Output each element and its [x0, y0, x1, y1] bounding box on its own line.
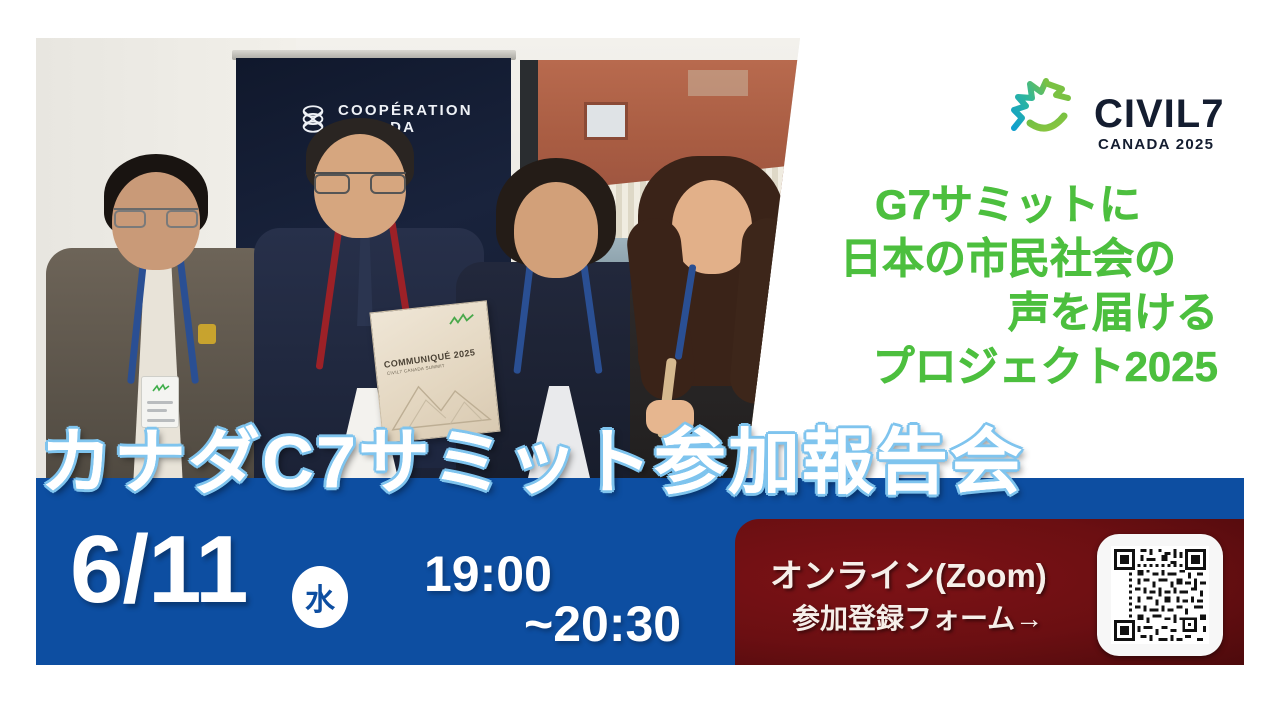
banner-line-1: COOPÉRATION	[338, 102, 473, 119]
civil7-wordmark: CIVIL7	[1094, 94, 1224, 134]
registration-line-1: オンライン(Zoom)	[770, 549, 1047, 597]
person-third-head	[514, 182, 598, 278]
badge-line-3	[147, 419, 175, 422]
qr-code-icon[interactable]	[1111, 546, 1209, 644]
event-photo: COOPÉRATION CANADA	[36, 38, 800, 478]
civil7-subtitle: CANADA 2025	[1098, 136, 1214, 153]
building-window	[584, 102, 628, 140]
person-left-glasses-icon	[114, 208, 198, 226]
person-left-badge	[141, 376, 179, 428]
badge-line-1	[147, 401, 173, 404]
tagline-line-4: プロジェクト2025	[798, 340, 1218, 394]
badge-line-2	[147, 409, 167, 412]
event-time-end: ~20:30	[524, 595, 681, 653]
booklet-civil7-icon	[447, 311, 476, 328]
event-day-of-week: 水	[292, 566, 348, 628]
tagline-line-1: G7サミットに	[798, 178, 1218, 232]
tagline: G7サミットに 日本の市民社会の 声を届ける プロジェクト2025	[798, 178, 1218, 394]
tagline-line-3: 声を届ける	[798, 286, 1218, 340]
registration-line-2[interactable]: 参加登録フォーム→	[792, 597, 1043, 637]
tagline-line-2: 日本の市民社会の	[798, 232, 1218, 286]
building-window-secondary	[688, 70, 748, 96]
badge-civil7-icon	[151, 383, 171, 395]
event-poster: COOPÉRATION CANADA	[0, 0, 1280, 720]
civil7-logo: CIVIL7 CANADA 2025	[1008, 78, 1220, 170]
qr-code-card[interactable]	[1097, 534, 1223, 656]
photo-scene: COOPÉRATION CANADA	[36, 38, 800, 478]
person-second-glasses-icon	[314, 172, 406, 192]
page-title: カナダC7サミット参加報告会	[40, 424, 1220, 502]
civil7-leaf-mark-icon	[1008, 78, 1096, 140]
event-date: 6/11	[70, 520, 248, 620]
person-left-pin	[198, 324, 216, 344]
